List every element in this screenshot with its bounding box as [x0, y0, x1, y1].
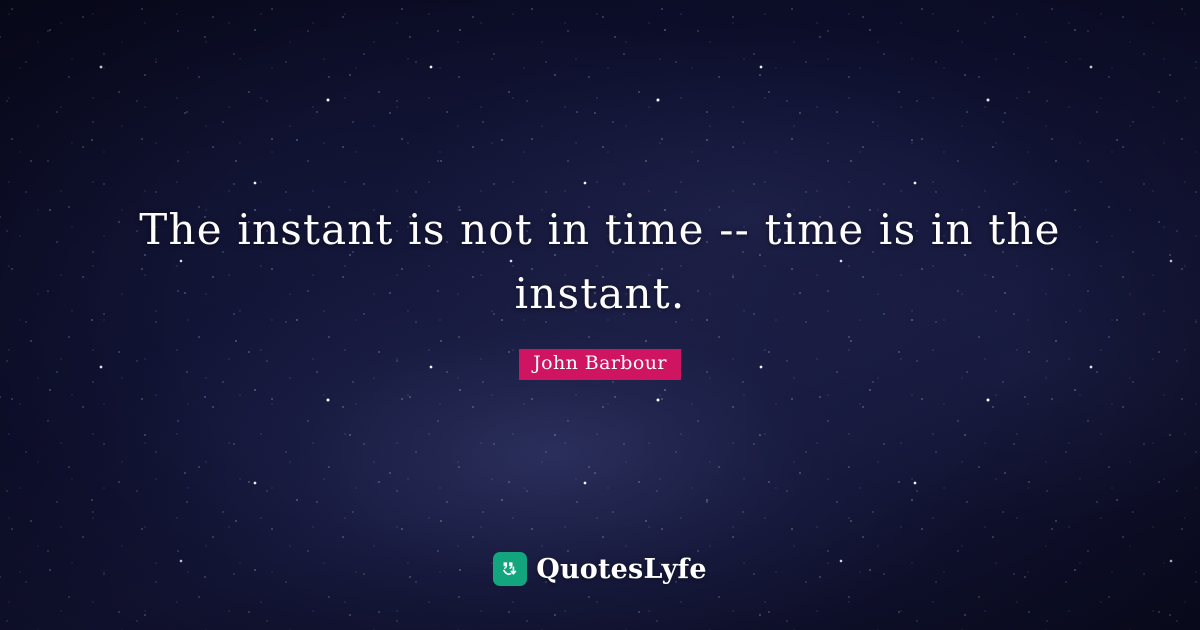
card-content: The instant is not in time -- time is in…	[0, 0, 1200, 630]
author-row: John Barbour	[0, 349, 1200, 380]
author-badge: John Barbour	[519, 349, 681, 380]
quote-smiley-icon	[493, 552, 527, 586]
quote-text: The instant is not in time -- time is in…	[110, 198, 1090, 326]
quote-card: The instant is not in time -- time is in…	[0, 0, 1200, 630]
brand-name: QuotesLyfe	[536, 556, 707, 583]
brand-logo[interactable]: QuotesLyfe	[0, 552, 1200, 586]
quote-block: The instant is not in time -- time is in…	[0, 198, 1200, 326]
